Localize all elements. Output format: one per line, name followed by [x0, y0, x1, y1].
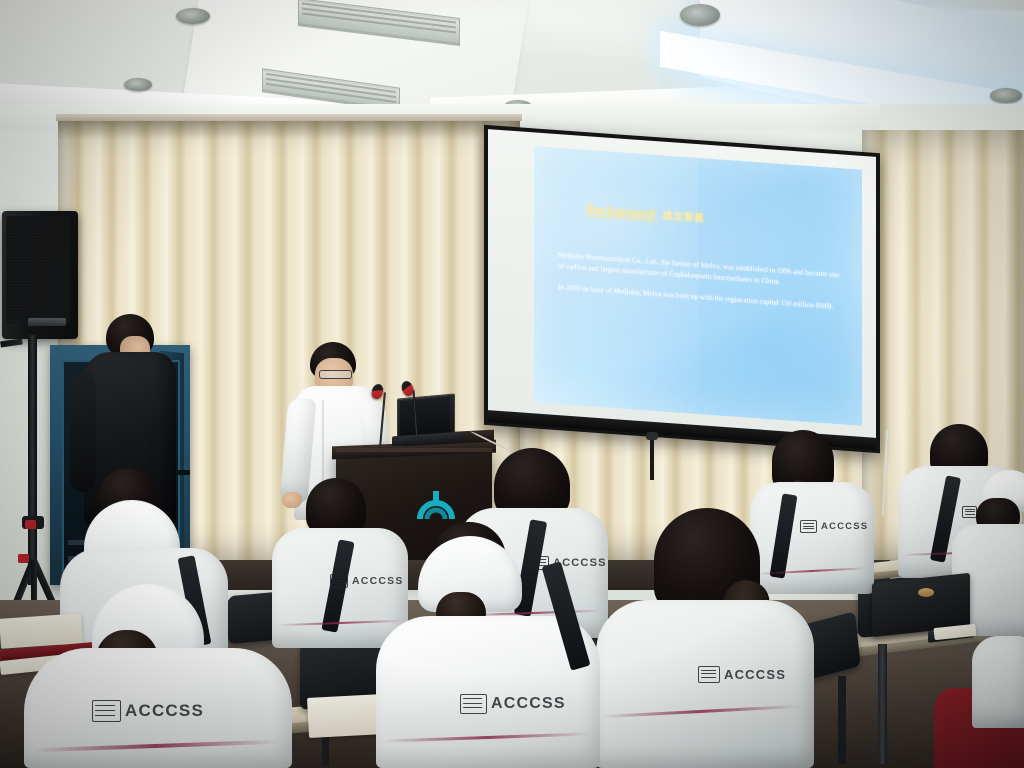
acccss-logo-icon — [800, 520, 817, 533]
projection-screen-cord-knob — [646, 432, 658, 440]
acccss-logo-icon — [698, 666, 720, 683]
speaker-tripod-pole — [28, 335, 37, 585]
audience-jacket — [596, 600, 814, 768]
jacket-logo-text: ACCCSS — [352, 575, 404, 587]
slide-title: Background — [586, 202, 655, 221]
table-leg — [878, 644, 887, 764]
podium-front-edge — [336, 448, 492, 452]
acccss-logo-icon — [92, 700, 121, 722]
audience-jacket — [750, 482, 874, 594]
projected-slide: Background成立背景 Medjohn Pharmaceutical Co… — [534, 146, 862, 426]
presenter-hand — [282, 492, 302, 508]
podium-logo-icon — [414, 487, 458, 521]
jacket-logo: ACCCSS — [92, 700, 204, 722]
downlight-icon — [680, 4, 720, 26]
audience-hair — [306, 478, 366, 534]
jacket-logo-text: ACCCSS — [821, 521, 868, 532]
tripod-lock-knob — [18, 554, 29, 563]
jacket-logo-text: ACCCSS — [724, 667, 786, 682]
downlight-icon — [176, 8, 210, 24]
downlight-icon — [990, 88, 1022, 103]
conference-room-photo: Background成立背景 Medjohn Pharmaceutical Co… — [0, 0, 1024, 768]
jacket-logo: ACCCSS — [698, 666, 786, 683]
tripod-lock-knob — [25, 520, 36, 529]
acccss-logo-icon — [962, 506, 977, 518]
pa-speaker-badge — [28, 318, 66, 326]
slide-title-row: Background成立背景 — [586, 202, 836, 235]
jacket-logo — [962, 506, 977, 518]
technician-arm — [70, 372, 96, 492]
acccss-logo-icon — [460, 694, 487, 714]
chair-leg — [838, 676, 846, 764]
jacket-logo: ACCCSS — [800, 520, 868, 533]
slide-body: Medjohn Pharmaceutical Co., Ltd., the fo… — [558, 250, 842, 323]
jacket-logo-text: ACCCSS — [491, 695, 566, 713]
jacket-logo-text: ACCCSS — [125, 701, 204, 721]
curtain-rail — [56, 114, 522, 121]
jacket-logo: ACCCSS — [330, 574, 404, 588]
pa-speaker-grille — [6, 216, 70, 324]
jacket-logo: ACCCSS — [460, 694, 566, 714]
audience-jacket — [972, 636, 1024, 728]
acccss-logo-icon — [330, 574, 348, 588]
laptop-logo-tag — [918, 588, 934, 597]
curtain-top-shadow — [58, 118, 520, 140]
rack-handle — [178, 470, 190, 475]
downlight-icon — [124, 78, 152, 91]
papers — [307, 694, 385, 738]
laptop-screen — [400, 397, 450, 437]
slide-title-chinese: 成立背景 — [663, 211, 705, 224]
projection-screen-drop-cord — [650, 434, 654, 480]
glasses-icon — [319, 370, 352, 379]
